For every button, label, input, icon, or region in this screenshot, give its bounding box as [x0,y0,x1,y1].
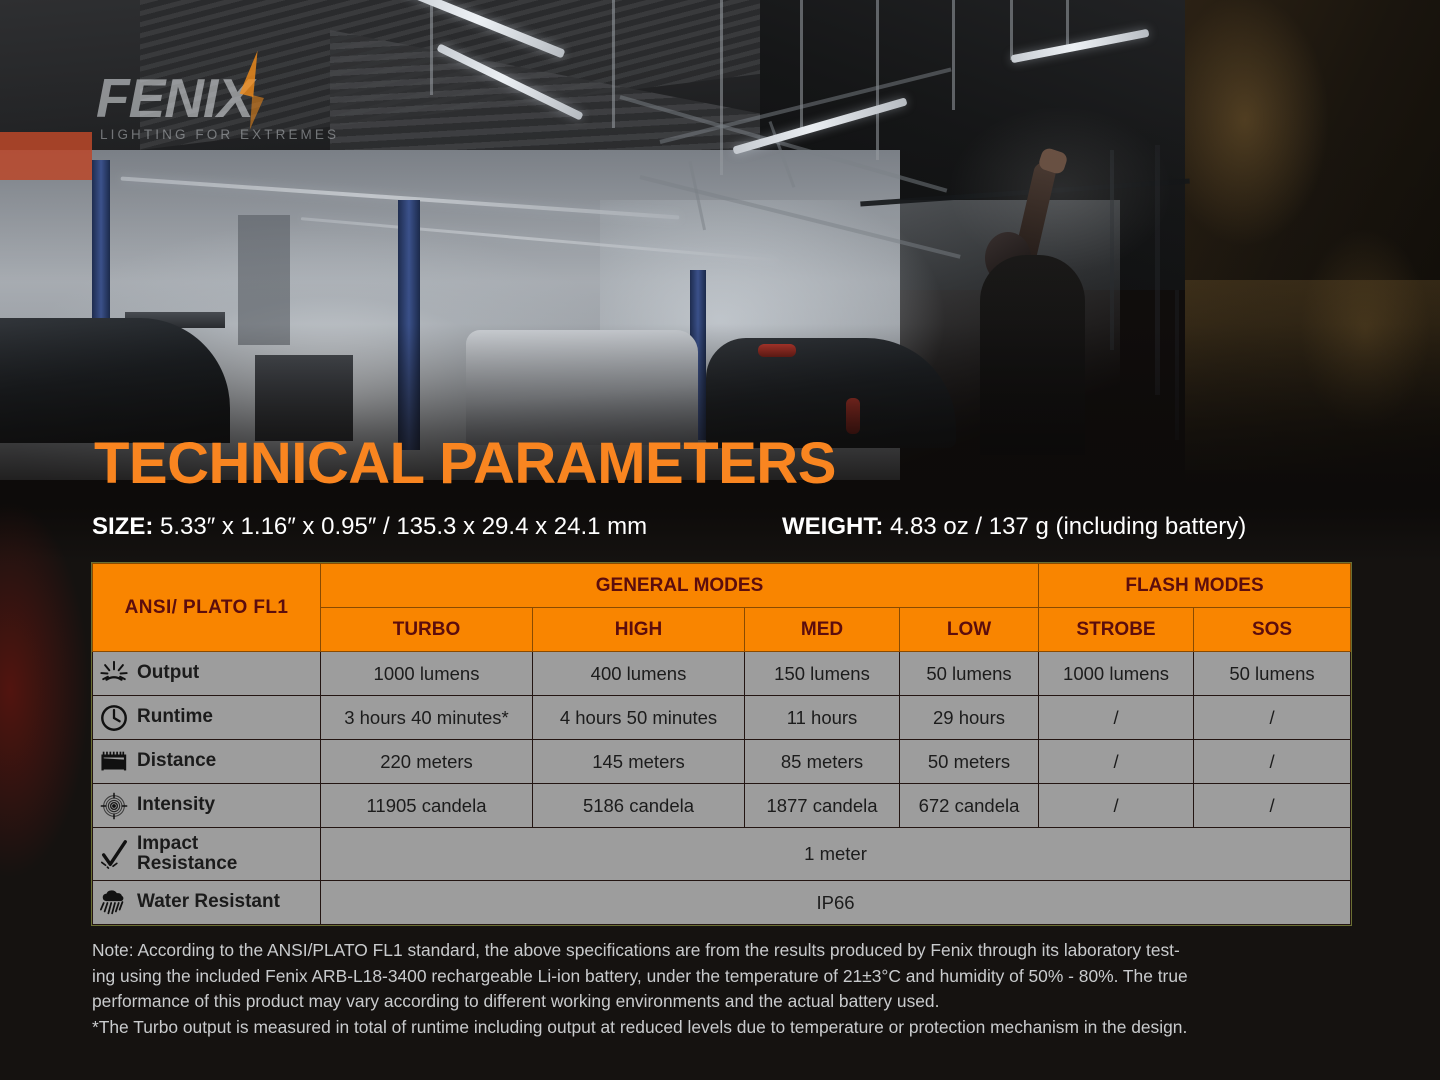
spec-summary-line: SIZE: 5.33″ x 1.16″ x 0.95″ / 135.3 x 29… [92,513,1352,545]
header-mode-med: MED [745,608,900,652]
row-label-impact-resistance: Impact Resistance [93,828,321,881]
header-mode-strobe: STROBE [1039,608,1194,652]
footnote-line-4: *The Turbo output is measured in total o… [92,1015,1354,1041]
cell-runtime-high: 4 hours 50 minutes [533,696,745,740]
row-label-line1: Impact [137,833,198,854]
header-general-modes: GENERAL MODES [321,564,1039,608]
table-row: Impact Resistance 1 meter [93,828,1351,881]
cell-output-low: 50 lumens [900,652,1039,696]
cell-intensity-high: 5186 candela [533,784,745,828]
cell-water-resistant-value: IP66 [321,881,1351,925]
footnote-line-2: ing using the included Fenix ARB-L18-340… [92,964,1354,990]
logo-tagline: LIGHTING FOR EXTREMES [96,127,396,142]
header-flash-modes: FLASH MODES [1039,564,1351,608]
cell-runtime-turbo: 3 hours 40 minutes* [321,696,533,740]
header-mode-low: LOW [900,608,1039,652]
header-mode-high: HIGH [533,608,745,652]
cell-distance-sos: / [1194,740,1351,784]
cell-runtime-low: 29 hours [900,696,1039,740]
row-label-text: Impact Resistance [137,834,237,874]
row-label-text: Distance [137,751,216,771]
footnote-block: Note: According to the ANSI/PLATO FL1 st… [92,938,1354,1040]
header-ansi-plato-fl1: ANSI/ PLATO FL1 [93,564,321,652]
header-mode-turbo: TURBO [321,608,533,652]
cell-intensity-turbo: 11905 candela [321,784,533,828]
fenix-logo: FENIX LIGHTING FOR EXTREMES [96,72,396,142]
size-value: 5.33″ x 1.16″ x 0.95″ / 135.3 x 29.4 x 2… [160,513,647,540]
clock-icon [99,703,129,733]
row-label-intensity: Intensity [93,784,321,828]
row-label-text: Water Resistant [137,892,280,912]
cell-intensity-strobe: / [1039,784,1194,828]
target-intensity-icon [99,791,129,821]
size-spec: SIZE: 5.33″ x 1.16″ x 0.95″ / 135.3 x 29… [92,513,647,541]
table-row: Distance 220 meters 145 meters 85 meters… [93,740,1351,784]
table-row: Water Resistant IP66 [93,881,1351,925]
table-row: Intensity 11905 candela 5186 candela 187… [93,784,1351,828]
cell-intensity-med: 1877 candela [745,784,900,828]
cell-distance-low: 50 meters [900,740,1039,784]
cell-impact-resistance-value: 1 meter [321,828,1351,881]
table-row: Output 1000 lumens 400 lumens 150 lumens… [93,652,1351,696]
rain-cloud-icon [99,888,129,918]
cell-distance-med: 85 meters [745,740,900,784]
cell-output-turbo: 1000 lumens [321,652,533,696]
footnote-line-3: performance of this product may vary acc… [92,989,1354,1015]
cell-output-sos: 50 lumens [1194,652,1351,696]
row-label-text: Runtime [137,707,213,727]
cell-output-strobe: 1000 lumens [1039,652,1194,696]
row-label-output: Output [93,652,321,696]
weight-spec: WEIGHT: 4.83 oz / 137 g (including batte… [782,513,1246,541]
cell-distance-strobe: / [1039,740,1194,784]
technical-parameters-table: ANSI/ PLATO FL1 GENERAL MODES FLASH MODE… [92,563,1351,925]
cell-distance-turbo: 220 meters [321,740,533,784]
cell-intensity-sos: / [1194,784,1351,828]
sun-burst-icon [99,659,129,689]
impact-drop-icon [99,839,129,869]
cell-output-high: 400 lumens [533,652,745,696]
page-title: TECHNICAL PARAMETERS [94,435,836,493]
weight-label: WEIGHT: [782,513,883,540]
cell-intensity-low: 672 candela [900,784,1039,828]
cell-output-med: 150 lumens [745,652,900,696]
beam-distance-icon [99,747,129,777]
weight-value: 4.83 oz / 137 g (including battery) [890,513,1246,540]
row-label-line2: Resistance [137,853,237,874]
row-label-water-resistant: Water Resistant [93,881,321,925]
size-label: SIZE: [92,513,153,540]
table-row: Runtime 3 hours 40 minutes* 4 hours 50 m… [93,696,1351,740]
row-label-runtime: Runtime [93,696,321,740]
header-mode-sos: SOS [1194,608,1351,652]
table-group-header-row: ANSI/ PLATO FL1 GENERAL MODES FLASH MODE… [93,564,1351,608]
cell-runtime-strobe: / [1039,696,1194,740]
cell-runtime-sos: / [1194,696,1351,740]
row-label-text: Intensity [137,795,215,815]
cell-runtime-med: 11 hours [745,696,900,740]
row-label-text: Output [137,663,199,683]
footnote-line-1: Note: According to the ANSI/PLATO FL1 st… [92,938,1354,964]
row-label-distance: Distance [93,740,321,784]
cell-distance-high: 145 meters [533,740,745,784]
